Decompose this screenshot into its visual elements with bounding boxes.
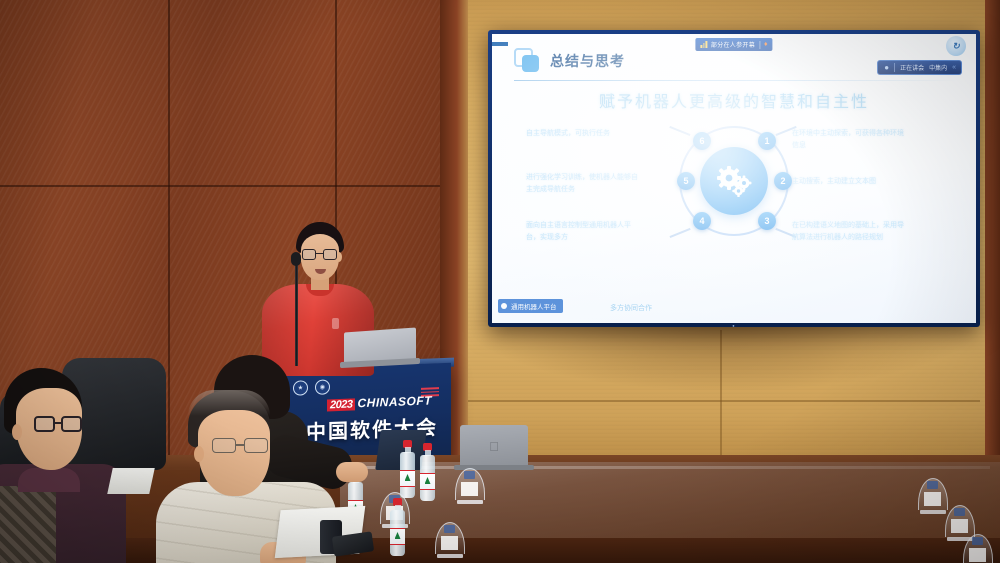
diagram-label-2: 主动搜索，主动建立文本图 <box>792 176 910 188</box>
attendee-1-collar <box>18 468 80 492</box>
podium-english-title: CHINASOFT <box>357 393 432 410</box>
flame-icon: ♦ <box>764 41 768 48</box>
stream-right-banner[interactable]: ● 正在讲会 中集内 « <box>877 60 962 75</box>
circular-process-diagram: 1 2 3 4 5 6 <box>675 122 793 240</box>
table-laptop-macbook[interactable]:  <box>460 425 528 467</box>
stream-top-banner[interactable]: 部分在人参开幕 ♦ <box>695 38 772 51</box>
diagram-label-5: 进行强化学习训练，使机器人能够自主完成导航任务 <box>526 172 644 195</box>
institution-logo-icon: ↻ <box>946 36 966 56</box>
attendee-1-scarf <box>0 486 56 563</box>
rounded-square-icon <box>514 48 540 74</box>
speaker-glasses <box>302 249 338 260</box>
podium-title-row: 2023 CHINASOFT <box>327 393 432 411</box>
wall-seam-vertical-a <box>168 0 170 185</box>
chevron-left-icon[interactable]: « <box>952 64 955 71</box>
attendee-1-glasses <box>34 416 82 432</box>
stream-top-label: 部分在人参开幕 <box>711 40 755 49</box>
slide-watermark-tail: 多方协同合作 <box>610 303 652 313</box>
gears-icon <box>700 147 768 215</box>
diagram-node-6[interactable]: 6 <box>693 132 711 150</box>
attendee-3-hand <box>336 462 368 482</box>
slide-header: 总结与思考 <box>514 48 625 74</box>
attendee-1 <box>0 368 120 563</box>
microphone-stand <box>295 258 298 366</box>
water-bottle <box>400 440 415 498</box>
light-wall-seam-horizontal <box>468 400 980 402</box>
screen-cast-shadow <box>468 320 980 390</box>
microphone-head-icon <box>291 252 301 266</box>
slide-watermark-badge: 通用机器人平台 <box>498 299 563 313</box>
conference-room-scene: 总结与思考 赋予机器人更高级的智慧和自主性 <box>0 0 1000 563</box>
nameplate-holder <box>963 534 993 563</box>
attendee-2-glasses <box>212 438 268 454</box>
dark-wood-wall-right <box>985 0 1000 470</box>
slide-canvas: 总结与思考 赋予机器人更高级的智慧和自主性 <box>492 34 976 323</box>
nameplate-holder <box>435 522 465 558</box>
diagram-label-1: 在环境中主动探索，可获得各种环境信息 <box>792 128 910 151</box>
diagram-node-1[interactable]: 1 <box>758 132 776 150</box>
nameplate-holder <box>455 468 485 504</box>
diagram-node-4[interactable]: 4 <box>693 212 711 230</box>
diagram-label-6: 自主导航模式，可执行任务 <box>526 128 644 140</box>
diagram-label-4: 面向自主语言控制型通用机器人平台，实现多方 <box>526 220 644 243</box>
slide-corner-accent <box>492 42 508 46</box>
diagram-node-5[interactable]: 5 <box>677 172 695 190</box>
diagram-leader-6 <box>670 126 691 136</box>
stream-right-label2: 中集内 <box>929 63 947 72</box>
microphone-icon: ● <box>884 63 889 72</box>
printed-document-secondary <box>107 468 155 494</box>
water-bottle <box>390 498 405 556</box>
attendee-1-ear <box>12 424 22 440</box>
diagram-node-3[interactable]: 3 <box>758 212 776 230</box>
diagram-node-2[interactable]: 2 <box>774 172 792 190</box>
stream-right-divider <box>894 63 895 72</box>
slide-main-title: 赋予机器人更高级的智慧和自主性 <box>492 88 976 112</box>
presentation-display[interactable]: 总结与思考 赋予机器人更高级的智慧和自主性 <box>488 30 980 327</box>
nameplate-holder <box>918 478 948 514</box>
speaker-shirt-logo <box>332 318 339 329</box>
diagram-leader-4 <box>670 228 691 238</box>
slide-header-title: 总结与思考 <box>550 51 625 71</box>
slide-header-divider <box>514 80 958 81</box>
badge-dot-icon <box>501 303 507 309</box>
badge-label: 通用机器人平台 <box>511 301 557 311</box>
water-bottle <box>420 443 435 501</box>
stream-right-label: 正在讲会 <box>900 63 924 72</box>
wall-seam-horizontal <box>0 185 460 187</box>
attendee-2-ear <box>194 446 204 462</box>
signal-bars-icon <box>700 41 707 48</box>
diagram-label-3: 在已构建语义地图的基础上，采用导航算法进行机器人的路径规划 <box>792 220 910 243</box>
stream-divider <box>759 41 760 49</box>
apple-logo-icon:  <box>489 439 499 454</box>
display-brand-mark: ● <box>732 323 735 328</box>
